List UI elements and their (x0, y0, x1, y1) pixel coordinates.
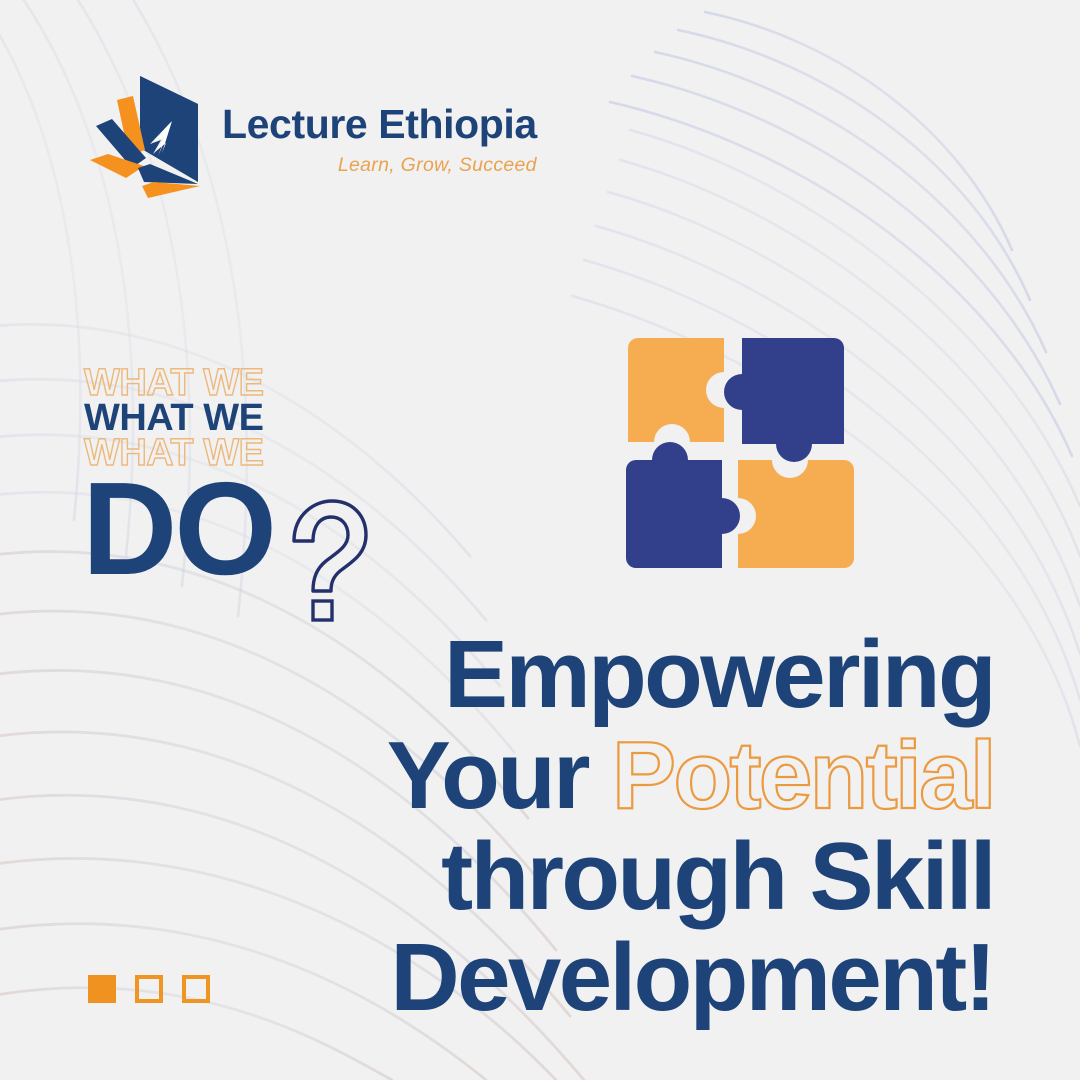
headline-line-4: Development! (354, 927, 994, 1028)
do-row: DO (82, 475, 372, 623)
brand-logo[interactable]: Lecture Ethiopia Learn, Grow, Succeed (88, 74, 537, 202)
question-mark-icon (286, 497, 372, 623)
puzzle-piece-bottom-right (738, 460, 854, 568)
eyebrow-block: WHAT WE WHAT WE WHAT WE DO (84, 366, 372, 623)
headline-line-3: through Skill (354, 826, 994, 927)
poster-canvas: Lecture Ethiopia Learn, Grow, Succeed WH… (0, 0, 1080, 1080)
burst-arrow-logo-mark-icon (88, 74, 206, 202)
headline-line-2-accent: Potential (612, 722, 994, 829)
jigsaw-puzzle-graphic (616, 336, 884, 580)
decor-square-outline-1 (135, 975, 163, 1003)
decor-square-filled (88, 975, 116, 1003)
logo-wordmark: Lecture Ethiopia Learn, Grow, Succeed (222, 74, 537, 177)
do-word: DO (82, 475, 274, 583)
puzzle-piece-top-right (724, 338, 844, 462)
puzzle-piece-top-left (628, 338, 724, 442)
brand-name: Lecture Ethiopia (222, 104, 537, 145)
headline-line-2-solid: Your (387, 722, 588, 829)
brand-tagline: Learn, Grow, Succeed (222, 154, 537, 177)
eyebrow-solid: WHAT WE (84, 401, 372, 436)
puzzle-piece-bottom-left (626, 442, 740, 568)
headline-line-2: Your Potential (354, 725, 994, 826)
headline-block: Empowering Your Potential through Skill … (354, 624, 994, 1028)
decorative-squares (88, 975, 210, 1003)
headline-line-1: Empowering (354, 624, 994, 725)
eyebrow-ghost-top: WHAT WE (84, 366, 372, 401)
decor-square-outline-2 (182, 975, 210, 1003)
